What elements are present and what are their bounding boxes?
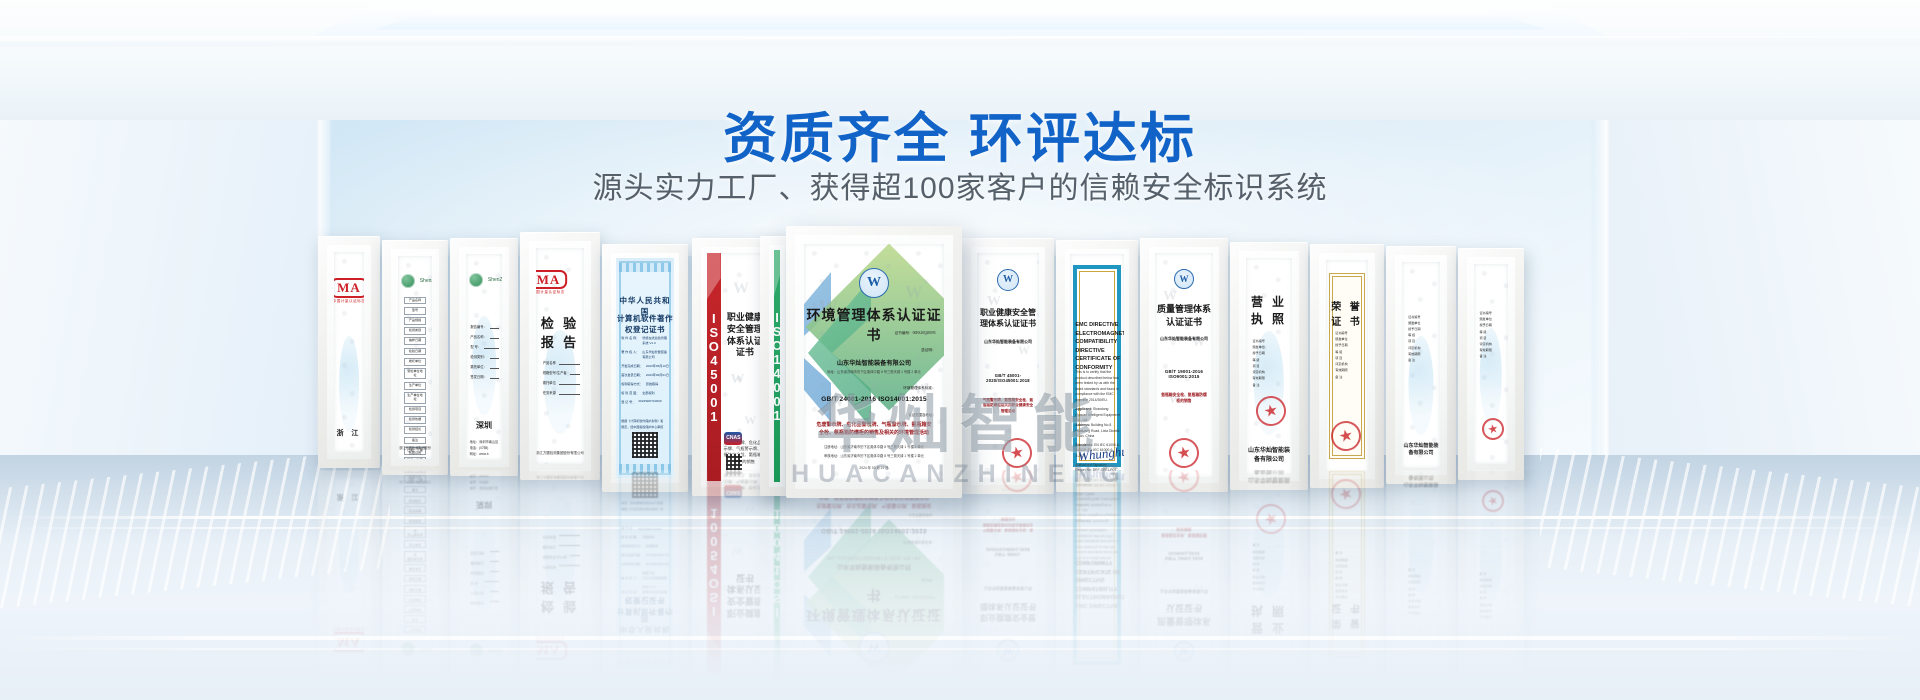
data-row: 生产单位 — [404, 382, 426, 390]
kv-row: 权利取得方式：原始取得 — [621, 381, 670, 386]
qr-code — [632, 432, 658, 458]
field-label: 产品名称： — [470, 334, 486, 339]
featured-footer-1: 注册地址：山东省济南市历下区奥体中路 8 号三箭天绿 1 号楼 2 单元 — [815, 445, 933, 451]
certification-body-seal: W — [997, 269, 1019, 291]
field-label: 任务来源 — [543, 390, 556, 395]
data-row: 备 注 — [1335, 376, 1362, 380]
field-rule — [559, 364, 580, 365]
data-row: 证书编号 — [1408, 316, 1435, 320]
data-row: 备注 — [404, 437, 426, 445]
cnas-logo: CNAS — [724, 432, 742, 445]
ce-applicant-label: Applicant: — [1075, 407, 1092, 411]
contact-address: 地址：深圳市南山区 — [470, 439, 499, 444]
data-row: 检测结论 — [404, 426, 426, 434]
ce-heading: EMC DIRECTIVE ELECTROMAGNETIC COMPATIBIL… — [1075, 321, 1120, 372]
featured-cert-no: 证书编号：00ES20Q20095 — [804, 331, 936, 336]
cert-no-label: 证书编号： — [895, 331, 913, 335]
data-row: 评定机构 — [1252, 371, 1287, 375]
form-field: 型 号： — [470, 344, 499, 349]
data-row: 评定机构 — [1335, 363, 1362, 367]
ma-logo-caption: 中国计量认证标志 — [334, 299, 364, 304]
cert-footer: 浙江方圆检测集团股份有限公司 — [536, 450, 584, 455]
data-row: 检测类别 — [404, 327, 426, 335]
data-row: 等 级 — [1252, 359, 1287, 363]
form-field: 产品名称： — [470, 334, 499, 339]
kv-row: 著 作 权 人：山东华灿智能装备有限公司 — [621, 349, 670, 359]
ce-address-label: Address: — [1075, 423, 1090, 427]
certificate-shenzhen-report[interactable]: ShenZhen 报告编号：产品名称：型 号：检测类别：委托单位：签发日期： 深… — [450, 238, 518, 476]
ma-logo-mark: MA — [334, 278, 364, 298]
iso45001-spine: ISO45001 — [707, 253, 721, 481]
field-rule — [490, 368, 499, 369]
seal-watermark: W — [744, 413, 756, 428]
data-row: 委托单位 — [404, 358, 426, 366]
field-rule — [559, 384, 580, 385]
kv-key: 软 件 名 称： — [621, 335, 639, 345]
contact-web: 网址：www.b — [470, 451, 489, 456]
data-row: 有效期限 — [1408, 353, 1435, 357]
contact-tel: 电话：(0755) — [470, 445, 489, 450]
form-field: 规格型号/生产者 — [543, 370, 580, 375]
field-label: 报告编号： — [470, 324, 486, 329]
certificate-software-copyright[interactable]: 中华人民共和国 计算机软件著作权登记证书 软 件 名 称：智能在线巡检管理系统 … — [602, 244, 688, 492]
cert-footer: 浙江方圆检测集团股份有限公司 — [398, 445, 432, 455]
data-row: 有效期限 — [1335, 369, 1362, 373]
cert-title: 检 验 报 告 — [536, 313, 584, 351]
certificate-wall: MA 中国计量认证标志 浙 江 Shenzhen 产品名称型号产品规格检测类别抽… — [0, 0, 1920, 700]
data-row: 产品规格 — [404, 317, 426, 325]
form-field: 报告编号： — [470, 324, 499, 329]
featured-scope: 危废警示牌、危化品警示牌、气瓶警示牌、氨瓶箱安全栓、氨瓶箱防爆柜的销售及相关的环… — [815, 421, 933, 437]
certification-body-seal: W — [859, 268, 889, 298]
field-rule — [559, 394, 580, 395]
field-rule — [490, 328, 499, 329]
data-row: 颁发单位 — [1335, 338, 1362, 342]
standard-label: 环境管理体系标准： — [804, 386, 936, 391]
issuing-org: 深圳 — [466, 420, 502, 431]
data-row: 项 目 — [1408, 340, 1435, 344]
kv-row: 开发完成日期：2023年05月10日 — [621, 363, 670, 368]
certificate-business-license[interactable]: 营 业 执 照 证书编号颁发单位授予日期等 级项 目评定机构有效期限备 注 ★ … — [1230, 242, 1308, 490]
report-table: 产品名称型号产品规格检测类别抽样日期检验日期委托单位受检单位地址生产单位生产单位… — [404, 297, 426, 431]
ma-logo-mark: MA — [536, 270, 567, 290]
field-label: 检测类别： — [470, 354, 486, 359]
ce-line1: EMC DIRECTIVE — [1075, 321, 1120, 330]
featured-company: 山东华灿智能装备有限公司 — [804, 358, 944, 367]
featured-standard: GB/T 24001-2016 ISO14001:2015 — [804, 396, 944, 403]
certificate-shenzhen-table[interactable]: Shenzhen 产品名称型号产品规格检测类别抽样日期检验日期委托单位受检单位地… — [382, 240, 448, 475]
scope-label: 认证范围及地址： — [804, 412, 936, 417]
copyright-fields: 软 件 名 称：智能在线巡检管理系统 V1.0著 作 权 人：山东华灿智能装备有… — [621, 335, 670, 408]
certification-body-seal: W — [1174, 269, 1194, 289]
iso45001-label: ISO45001 — [707, 311, 721, 423]
copyright-note-1: 根据《计算机软件保护条例》和 — [621, 419, 670, 424]
cert-company: 山东华灿智能装备有限公司 — [977, 339, 1039, 345]
official-red-stamp: ★ — [1166, 435, 1202, 471]
ma-logo: MA 中国计量认证标志 — [536, 270, 567, 296]
form-field: 检测类别： — [470, 354, 499, 359]
data-row: 授予日期 — [1335, 344, 1362, 348]
field-label: 产品名称 — [543, 360, 556, 365]
data-row: 抽样日期 — [404, 337, 426, 345]
ornament-bottom — [619, 464, 671, 473]
field-rule — [490, 358, 499, 359]
kv-value: 智能在线巡检管理系统 V1.0 — [642, 335, 670, 345]
form-field: 任务来源 — [543, 390, 580, 395]
data-row: 备 注 — [1408, 359, 1435, 363]
seal-watermark: W — [733, 280, 749, 298]
kv-value: 2023SR0710000 — [638, 399, 661, 404]
data-row: 授予日期 — [1252, 352, 1287, 356]
kv-value: 原始取得 — [646, 381, 658, 386]
ornament-top — [619, 263, 671, 272]
certificate-iso45001-b[interactable]: W W W W 职业健康安全管理体系认证证书 山东华灿智能装备有限公司 GB/T… — [962, 238, 1054, 494]
cert-title: 质量管理体系认证证书 — [1155, 302, 1213, 328]
data-row: 授予日期 — [1479, 324, 1503, 328]
ce-body-text: This is to certify that the product desc… — [1075, 370, 1120, 403]
kv-value: 山东华灿智能装备有限公司 — [642, 349, 670, 359]
spine-notch — [774, 250, 780, 296]
kv-key: 权利取得方式： — [621, 381, 643, 386]
kv-key: 首次发表日期： — [621, 372, 643, 377]
cert-header: Shenzhen — [401, 274, 430, 288]
field-label: 型 号： — [470, 344, 481, 349]
ce-line2: ELECTROMAGNETIC COMPATIBILITY DIRECTIVE — [1075, 330, 1120, 356]
data-row: 等 级 — [1335, 351, 1362, 355]
cert-footer: 浙 江 — [334, 428, 364, 438]
data-row: 颁发单位 — [1479, 318, 1503, 322]
form-field: 委托单位： — [470, 364, 499, 369]
field-label: 签发日期： — [470, 374, 486, 379]
cert-title: 荣 誉 证 书 — [1326, 298, 1368, 328]
iso14001-label: ISO14001 — [774, 310, 780, 422]
data-row: 受检单位地址 — [404, 368, 426, 379]
cert-standard: GB/T 45001-2020/ISO45001:2018 — [977, 373, 1039, 383]
cert-title: 职业健康安全管理体系认证证书 — [977, 307, 1039, 329]
featured-footer-2: 审核地址：山东省济南市历下区奥体中路 8 号三箭天绿 1 号楼 2 单元 — [815, 454, 933, 460]
globe-watermark — [339, 336, 359, 432]
featured-cert-title: 环境管理体系认证证书 — [804, 305, 944, 345]
showroom-stage: 资质齐全 环评达标 源头实力工厂、获得超100家客户的信赖安全标识系统 MA 中… — [0, 0, 1920, 700]
cert-header-text: ShenZhen — [488, 277, 502, 283]
seal-watermark: W — [1018, 343, 1030, 358]
data-row: 等 级 — [1408, 334, 1435, 338]
agency-seal-icon — [469, 273, 483, 287]
data-row: 生产单位地址 — [404, 392, 426, 403]
company-label: 兹证明： — [804, 348, 936, 353]
data-row: 授予日期 — [1408, 328, 1435, 332]
kv-row: 首次发表日期：2023年06月01日 — [621, 372, 670, 377]
kv-row: 软 件 名 称：智能在线巡检管理系统 V1.0 — [621, 335, 670, 345]
ma-logo-caption: 中国计量认证标志 — [536, 290, 567, 295]
ma-logo: MA 中国计量认证标志 — [334, 278, 364, 304]
kv-row: 登 记 号：2023SR0710000 — [621, 399, 670, 404]
plain-rows: 证书编号颁发单位授予日期等 级项 目评定机构有效期限备 注 — [1479, 312, 1503, 362]
cert-scope: 氨瓶箱安全栓、氨瓶箱防爆柜的销售 — [1160, 392, 1209, 404]
data-row: 检验日期 — [404, 348, 426, 356]
kv-value: 2023年05月10日 — [646, 363, 669, 368]
field-label: 委托单位 — [543, 380, 556, 385]
data-row: 型号 — [404, 307, 426, 315]
agency-seal-icon — [401, 274, 415, 288]
license-rows: 证书编号颁发单位授予日期等 级项 目评定机构有效期限备 注 — [1252, 340, 1287, 390]
copyright-note-2: 规定，经中国版权保护中心审核 — [621, 425, 670, 430]
kv-key: 登 记 号： — [621, 399, 635, 404]
data-row: 检测依据 — [404, 416, 426, 424]
kv-row: 权 利 范 围：全部权利 — [621, 390, 670, 395]
field-rule — [490, 378, 499, 379]
cert-footer: 山东华灿智能装备有限公司 — [1246, 445, 1292, 463]
featured-issue-date: 2024 年 03 月 21 日 — [815, 466, 933, 472]
field-rule — [484, 348, 499, 349]
ce-std-label: Standards: — [1075, 443, 1093, 447]
copyright-note: 根据《计算机软件保护条例》和 规定，经中国版权保护中心审核 — [621, 419, 670, 429]
copyright-line2: 计算机软件著作权登记证书 — [616, 313, 674, 335]
cert-header: ShenZhen — [469, 273, 499, 287]
data-row: 证书编号 — [1252, 340, 1287, 344]
form-field: 产品名称 — [543, 360, 580, 365]
data-row: 有效期限 — [1252, 377, 1287, 381]
data-row: 有效期限 — [1479, 349, 1503, 353]
kv-value: 全部权利 — [642, 390, 654, 395]
cert-scope: 气瓶警示牌、氨瓶箱安全栓、氨瓶箱防爆柜相关的职业健康安全管理活动 — [982, 398, 1034, 415]
cert-title: 营 业 执 照 — [1246, 293, 1292, 327]
data-row: 证书编号 — [1335, 332, 1362, 336]
cert-footer: 山东华灿智能装备有限公司 — [1402, 442, 1440, 456]
data-row: 项 目 — [1335, 357, 1362, 361]
certificate-ma-zhejiang[interactable]: MA 中国计量认证标志 浙 江 — [318, 236, 380, 468]
kv-key: 权 利 范 围： — [621, 390, 639, 395]
data-row: 颁发单位 — [1408, 322, 1435, 326]
certificate-far-right[interactable]: 证书编号颁发单位授予日期等 级项 目评定机构有效期限备 注 ★ — [1458, 248, 1524, 480]
field-rule — [490, 338, 499, 339]
seal-watermark: W — [731, 372, 745, 388]
form-field: 签发日期： — [470, 374, 499, 379]
field-label: 委托单位： — [470, 364, 486, 369]
featured-address: 地址：山东省济南市历下区奥体中路 8 号三箭天绿 1 号楼 2 单元 — [815, 370, 933, 376]
data-row: 评定机构 — [1479, 343, 1503, 347]
iso14001-spine: ISO14001 — [774, 250, 780, 482]
data-row: 颁发单位 — [1252, 346, 1287, 350]
data-row: 评定机构 — [1408, 347, 1435, 351]
spine-notch — [707, 253, 721, 299]
certificate-right-plain[interactable]: 证书编号颁发单位授予日期等 级项 目评定机构有效期限备 注 山东华灿智能装备有限… — [1386, 246, 1456, 484]
data-row: 证书编号 — [1479, 312, 1503, 316]
official-red-stamp: ★ — [1480, 416, 1506, 442]
data-row: 项 目 — [1252, 365, 1287, 369]
certificate-ce-emc[interactable]: EMC DIRECTIVE ELECTROMAGNETIC COMPATIBIL… — [1056, 240, 1138, 492]
data-row: 项 目 — [1479, 337, 1503, 341]
field-label: 规格型号/生产者 — [543, 370, 567, 375]
seal-watermark: W — [905, 282, 923, 303]
certificate-gold-honor[interactable]: 荣 誉 证 书 证书编号颁发单位授予日期等 级项 目评定机构有效期限备 注 ★ — [1310, 244, 1384, 488]
data-row: 签发：制表 — [404, 457, 426, 459]
certificate-iso9001[interactable]: W W W W 质量管理体系认证证书 山东华灿智能装备有限公司 GB/T 190… — [1140, 238, 1228, 492]
cert-no-value: 00ES20Q20095 — [913, 331, 936, 335]
kv-key: 著 作 权 人： — [621, 349, 639, 359]
data-row: 等 级 — [1479, 331, 1503, 335]
report-fields: 报告编号：产品名称：型 号：检测类别：委托单位：签发日期： — [470, 324, 499, 384]
kv-value: 2023年06月01日 — [646, 372, 669, 377]
field-rule — [570, 374, 580, 375]
plain-rows: 证书编号颁发单位授予日期等 级项 目评定机构有效期限备 注 — [1408, 316, 1435, 366]
ce-report-no: Report No: DEF-CE01-P01 — [1075, 468, 1120, 473]
cert-standard: GB/T 19001-2016 ISO9001:2015 — [1155, 369, 1213, 379]
cert-company: 山东华灿智能装备有限公司 — [1155, 336, 1213, 342]
data-row: 备 注 — [1252, 384, 1287, 388]
data-row: 备 注 — [1479, 355, 1503, 359]
data-row: 检测项目 — [404, 406, 426, 414]
qr-code — [726, 454, 742, 470]
certificate-ma-inspection[interactable]: MA 中国计量认证标志 检 验 报 告 产品名称规格型号/生产者委托单位任务来源… — [520, 232, 600, 480]
inspection-fields: 产品名称规格型号/生产者委托单位任务来源 — [543, 360, 580, 400]
form-field: 委托单位 — [543, 380, 580, 385]
certificate-iso14001-featured[interactable]: W W W W W 环境管理体系认证证书 证书编号：00ES20Q20095 兹… — [786, 226, 962, 498]
cert-header-text: Shenzhen — [420, 278, 432, 284]
data-row: 产品名称 — [404, 297, 426, 305]
kv-key: 开发完成日期： — [621, 363, 643, 368]
honor-rows: 证书编号颁发单位授予日期等 级项 目评定机构有效期限备 注 — [1335, 332, 1362, 382]
